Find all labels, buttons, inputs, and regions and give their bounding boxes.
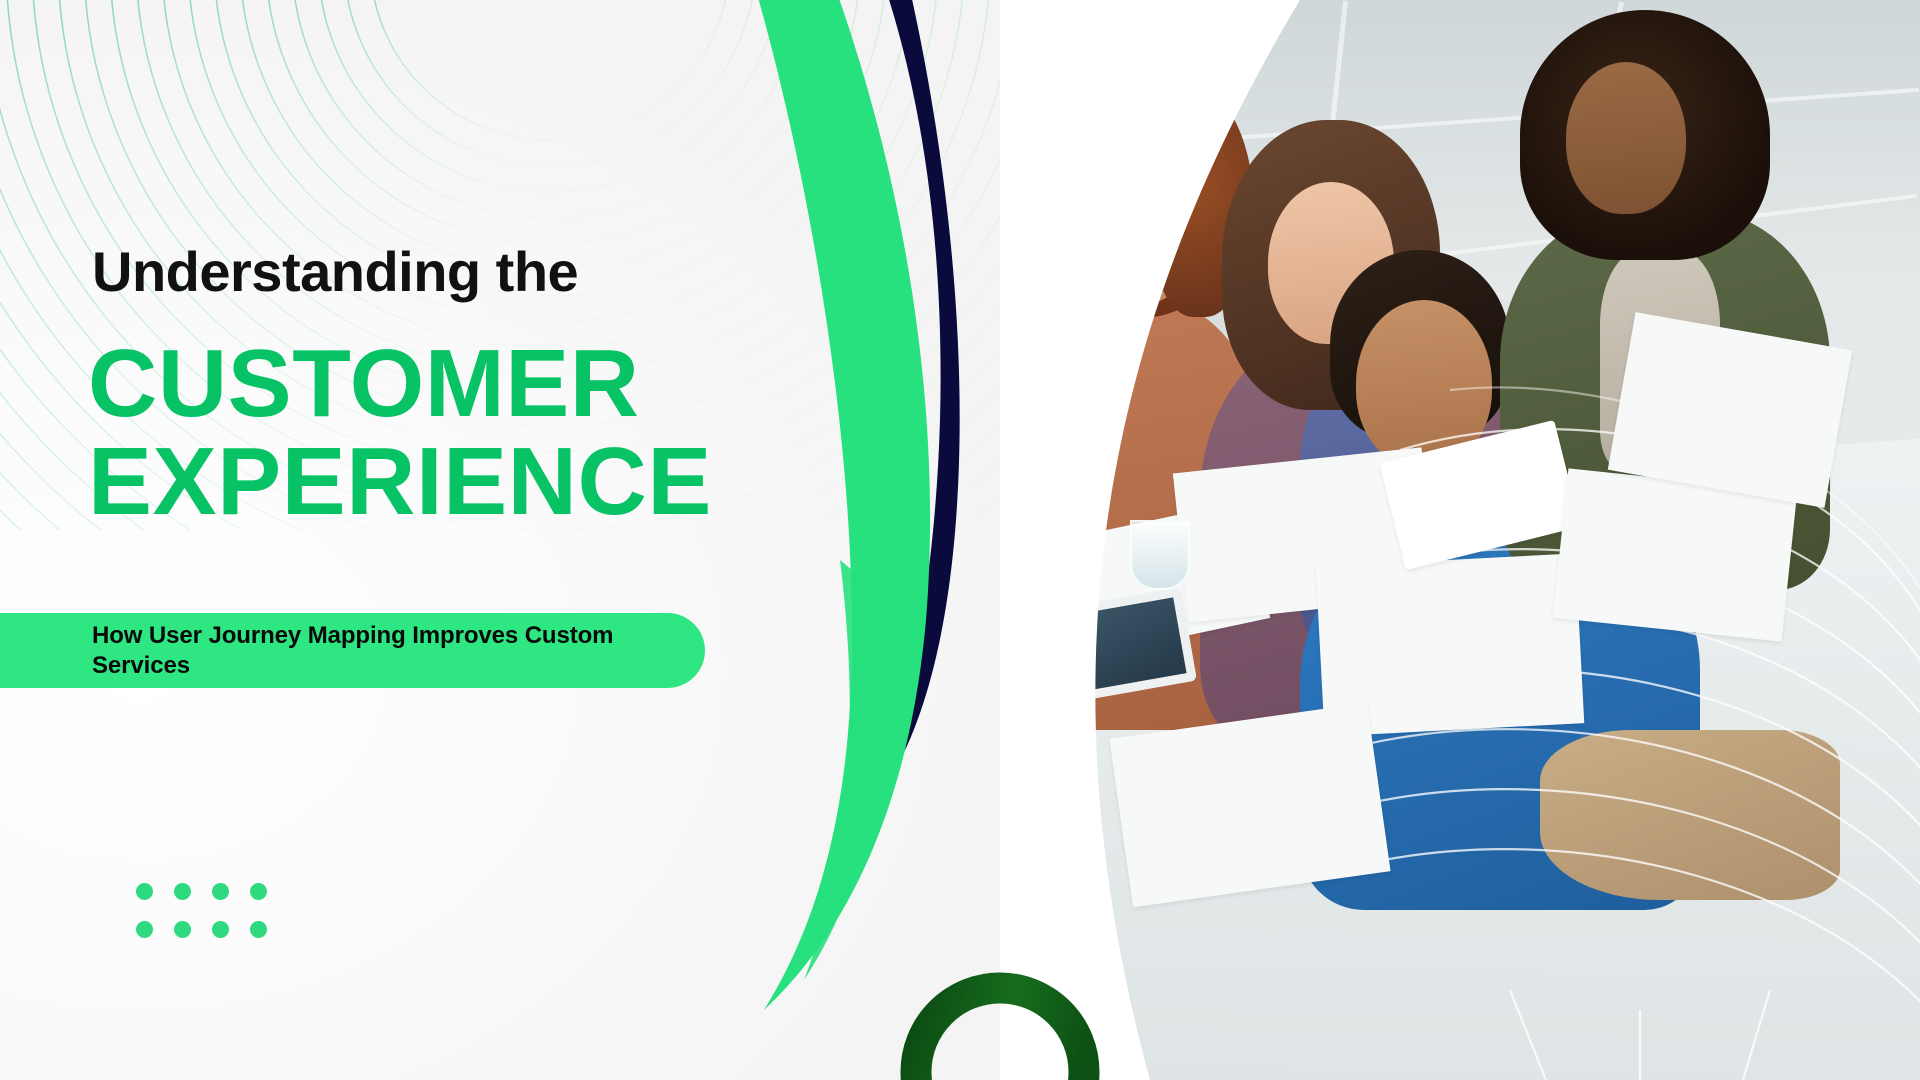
dot	[174, 921, 191, 938]
dot	[250, 883, 267, 900]
headline-line-1: CUSTOMER	[88, 330, 640, 437]
subtitle-banner: How User Journey Mapping Improves Custom…	[0, 613, 705, 688]
open-ring	[860, 950, 1120, 1080]
dots-decoration	[136, 883, 288, 959]
dot	[250, 921, 267, 938]
headline-line-2: EXPERIENCE	[88, 433, 808, 531]
dot	[212, 921, 229, 938]
dot	[136, 921, 153, 938]
kicker-text: Understanding the	[92, 244, 578, 300]
dot	[212, 883, 229, 900]
page-title: CUSTOMER EXPERIENCE	[88, 335, 808, 531]
ring-clip	[860, 950, 1120, 1080]
headline-block: Understanding the CUSTOMER EXPERIENCE Ho…	[0, 0, 860, 1080]
dot	[136, 883, 153, 900]
swoosh-ribbons	[700, 0, 1920, 1080]
subtitle-text: How User Journey Mapping Improves Custom…	[92, 621, 632, 681]
poster-canvas: Understanding the CUSTOMER EXPERIENCE Ho…	[0, 0, 1920, 1080]
dot	[174, 883, 191, 900]
